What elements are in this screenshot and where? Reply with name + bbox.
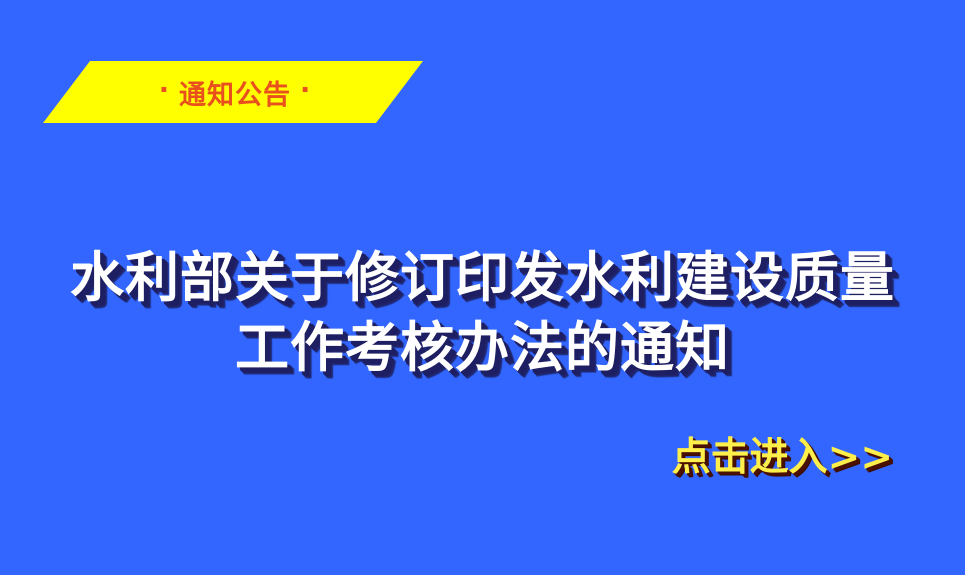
enter-link[interactable]: 点击进入>> <box>672 434 893 480</box>
ribbon-left-dot-icon: · <box>159 77 170 104</box>
ribbon-label-group: · 通知公告 · <box>43 61 423 123</box>
page-title-line-2: 工作考核办法的通知 <box>0 312 965 382</box>
page-title: 水利部关于修订印发水利建设质量 工作考核办法的通知 <box>0 242 965 382</box>
announcement-banner: · 通知公告 · 水利部关于修订印发水利建设质量 工作考核办法的通知 点击进入>… <box>0 0 965 575</box>
ribbon-right-dot-icon: · <box>300 77 311 104</box>
page-title-line-1: 水利部关于修订印发水利建设质量 <box>0 242 965 312</box>
ribbon-category-label: 通知公告 <box>179 73 291 112</box>
